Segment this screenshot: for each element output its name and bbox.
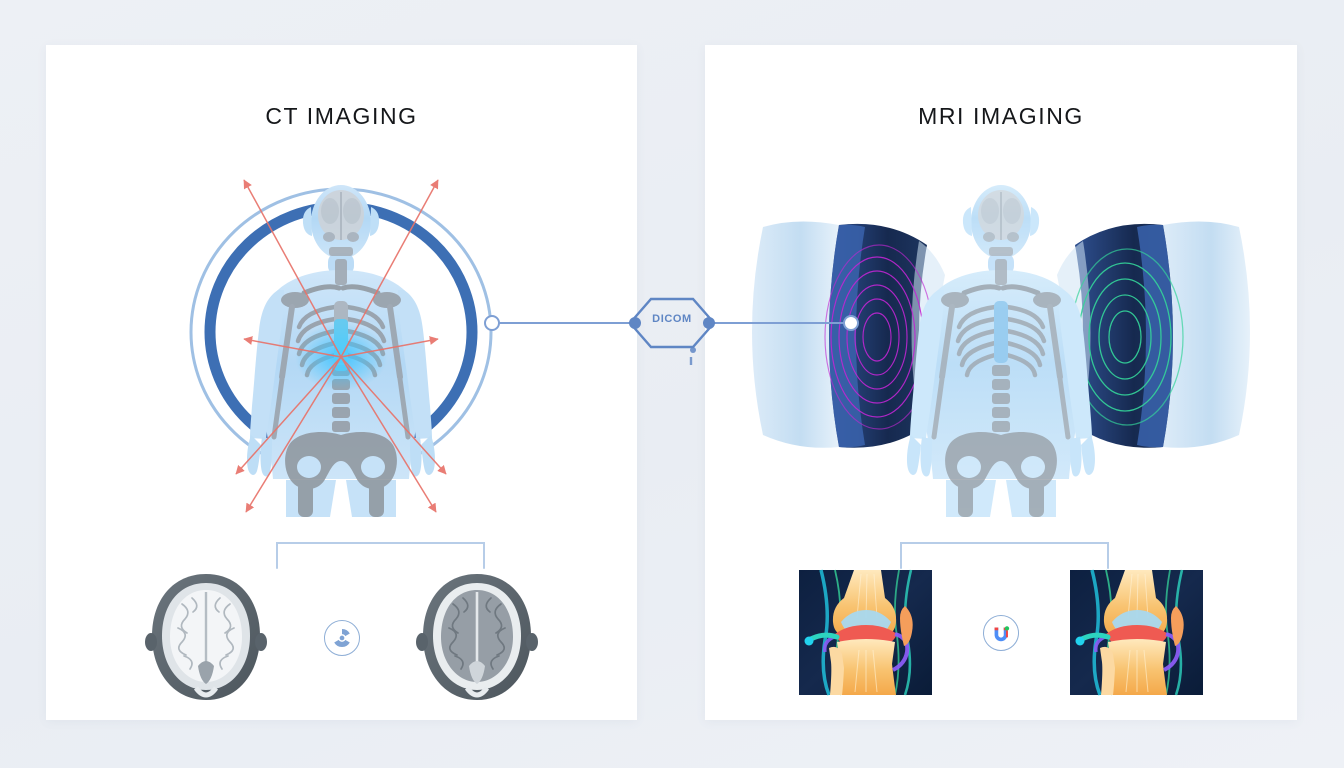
- brain-ct-slice-left: [132, 570, 280, 705]
- radiation-trefoil-icon: [324, 620, 360, 656]
- hexagon-marker-dot: [690, 347, 696, 353]
- mri-modality-icon-slot: [953, 615, 1049, 651]
- mri-scan-results: [705, 570, 1297, 695]
- scan-slot-right[interactable]: [1049, 570, 1224, 695]
- knee-mri-slice-right: [1070, 570, 1203, 695]
- ct-modality-icon-slot: [294, 620, 390, 656]
- panel-mri-imaging[interactable]: MRI IMAGING: [705, 45, 1297, 720]
- comparison-diagram: CT IMAGING: [0, 0, 1344, 768]
- knee-mri-slice-left: [799, 570, 932, 695]
- mri-scan-bracket: [705, 533, 1297, 573]
- scan-slot-right[interactable]: [390, 570, 565, 705]
- scan-slot-left[interactable]: [778, 570, 953, 695]
- panel-title-ct: CT IMAGING: [46, 103, 637, 130]
- scan-slot-left[interactable]: [119, 570, 294, 705]
- ct-scan-results: [46, 570, 637, 705]
- dicom-label: DICOM: [637, 313, 707, 325]
- panel-title-mri: MRI IMAGING: [705, 103, 1297, 130]
- mri-scanner-illustration: [705, 167, 1297, 517]
- ct-scan-bracket: [46, 533, 637, 573]
- brain-ct-slice-right: [403, 570, 551, 705]
- ct-scanner-illustration: [46, 167, 637, 517]
- panel-ct-imaging[interactable]: CT IMAGING: [46, 45, 637, 720]
- mri-magnet-icon: [983, 615, 1019, 651]
